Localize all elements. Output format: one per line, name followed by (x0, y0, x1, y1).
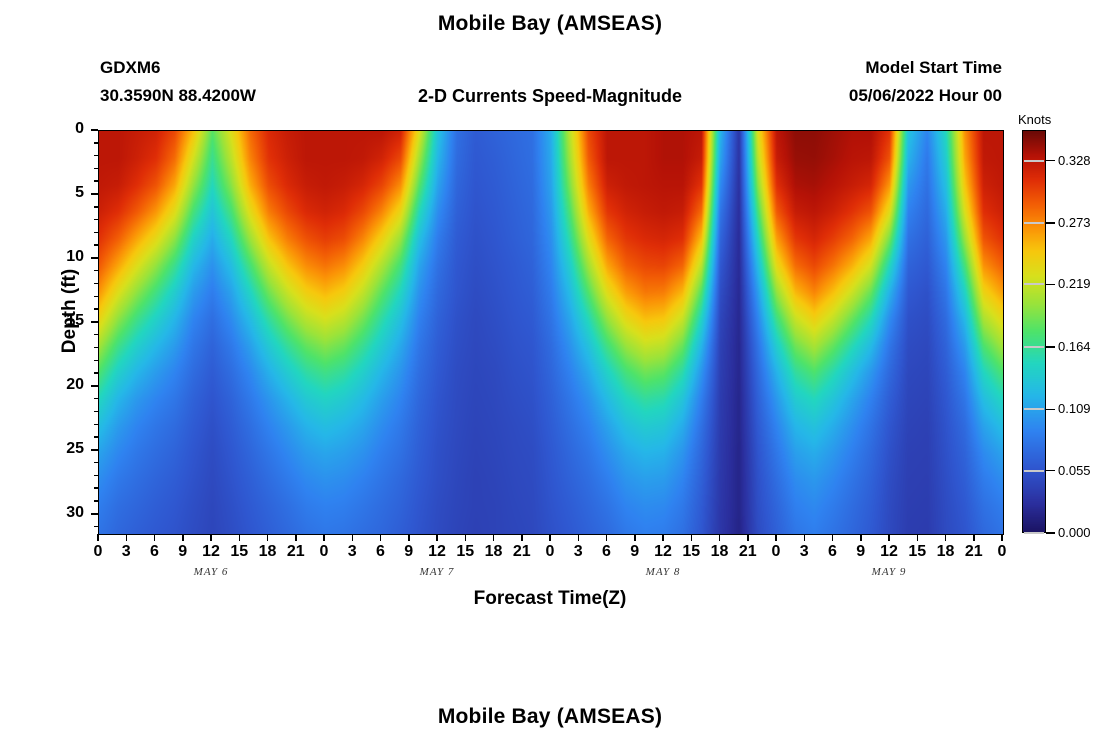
x-tick-mark (747, 534, 749, 541)
colorbar-tick-label: 0.055 (1058, 463, 1091, 478)
x-tick-mark (606, 534, 608, 541)
y-tick-label: 15 (44, 312, 84, 330)
colorbar-tick-label: 0.273 (1058, 215, 1091, 230)
x-tick-label: 3 (337, 543, 367, 561)
colorbar (1022, 130, 1046, 533)
y-minor-tick-mark (94, 372, 98, 374)
y-tick-label: 10 (44, 248, 84, 266)
x-tick-label: 15 (676, 543, 706, 561)
y-tick-label: 5 (44, 184, 84, 202)
x-tick-mark (549, 534, 551, 541)
y-tick-mark (91, 129, 98, 131)
x-tick-label: 12 (648, 543, 678, 561)
x-tick-label: 15 (224, 543, 254, 561)
y-tick-label: 25 (44, 440, 84, 458)
x-tick-label: 3 (563, 543, 593, 561)
x-tick-mark (352, 534, 354, 541)
colorbar-tick-mark (1046, 532, 1055, 534)
x-tick-label: 18 (253, 543, 283, 561)
colorbar-inner-tick (1024, 532, 1044, 534)
x-tick-label: 15 (902, 543, 932, 561)
y-minor-tick-mark (94, 142, 98, 144)
x-tick-label: 15 (450, 543, 480, 561)
colorbar-tick-label: 0.000 (1058, 525, 1091, 540)
model-start-time-value: 05/06/2022 Hour 00 (849, 86, 1002, 106)
x-tick-label: 12 (422, 543, 452, 561)
y-minor-tick-mark (94, 462, 98, 464)
x-tick-mark (154, 534, 156, 541)
x-tick-mark (267, 534, 269, 541)
x-day-label: MAY 9 (844, 566, 934, 578)
colorbar-inner-tick (1024, 408, 1044, 410)
colorbar-tick-mark (1046, 346, 1055, 348)
x-tick-mark (436, 534, 438, 541)
colorbar-tick-mark (1046, 160, 1055, 162)
x-tick-label: 21 (733, 543, 763, 561)
colorbar-inner-tick (1024, 346, 1044, 348)
x-day-label: MAY 6 (166, 566, 256, 578)
y-minor-tick-mark (94, 270, 98, 272)
y-tick-label: 30 (44, 504, 84, 522)
x-tick-label: 9 (620, 543, 650, 561)
x-tick-label: 0 (535, 543, 565, 561)
y-minor-tick-mark (94, 500, 98, 502)
y-minor-tick-mark (94, 308, 98, 310)
x-tick-mark (493, 534, 495, 541)
y-minor-tick-mark (94, 526, 98, 528)
y-tick-mark (91, 321, 98, 323)
x-tick-label: 9 (394, 543, 424, 561)
x-axis-title: Forecast Time(Z) (0, 588, 1100, 610)
x-tick-mark (182, 534, 184, 541)
page-title: Mobile Bay (AMSEAS) (0, 12, 1100, 36)
x-tick-label: 0 (987, 543, 1017, 561)
x-tick-mark (210, 534, 212, 541)
x-tick-label: 6 (818, 543, 848, 561)
x-tick-mark (408, 534, 410, 541)
x-tick-label: 21 (281, 543, 311, 561)
y-minor-tick-mark (94, 206, 98, 208)
x-tick-mark (662, 534, 664, 541)
x-tick-mark (917, 534, 919, 541)
y-minor-tick-mark (94, 296, 98, 298)
x-tick-mark (973, 534, 975, 541)
colorbar-units-label: Knots (1018, 112, 1051, 127)
colorbar-tick-label: 0.164 (1058, 339, 1091, 354)
x-tick-mark (634, 534, 636, 541)
x-tick-mark (521, 534, 523, 541)
heatmap-canvas (99, 131, 1003, 534)
x-tick-label: 21 (507, 543, 537, 561)
colorbar-tick-label: 0.109 (1058, 401, 1091, 416)
x-tick-mark (832, 534, 834, 541)
y-minor-tick-mark (94, 475, 98, 477)
y-minor-tick-mark (94, 398, 98, 400)
x-day-label: MAY 8 (618, 566, 708, 578)
x-tick-label: 0 (83, 543, 113, 561)
colorbar-tick-mark (1046, 470, 1055, 472)
page-footer-title: Mobile Bay (AMSEAS) (0, 705, 1100, 729)
x-tick-label: 3 (111, 543, 141, 561)
x-tick-label: 21 (959, 543, 989, 561)
colorbar-inner-tick (1024, 160, 1044, 162)
colorbar-tick-label: 0.219 (1058, 276, 1091, 291)
x-tick-label: 6 (140, 543, 170, 561)
x-tick-label: 6 (366, 543, 396, 561)
x-tick-mark (691, 534, 693, 541)
y-tick-label: 0 (44, 120, 84, 138)
x-tick-mark (1001, 534, 1003, 541)
x-tick-label: 0 (309, 543, 339, 561)
y-minor-tick-mark (94, 411, 98, 413)
y-tick-mark (91, 449, 98, 451)
y-tick-label: 20 (44, 376, 84, 394)
heatmap-plot-area (98, 130, 1004, 535)
colorbar-tick-mark (1046, 284, 1055, 286)
colorbar-inner-tick (1024, 283, 1044, 285)
y-minor-tick-mark (94, 180, 98, 182)
y-minor-tick-mark (94, 168, 98, 170)
x-tick-mark (578, 534, 580, 541)
y-minor-tick-mark (94, 244, 98, 246)
x-tick-label: 12 (874, 543, 904, 561)
x-tick-mark (465, 534, 467, 541)
y-tick-mark (91, 385, 98, 387)
x-tick-mark (380, 534, 382, 541)
x-tick-mark (775, 534, 777, 541)
x-tick-label: 9 (168, 543, 198, 561)
x-tick-mark (888, 534, 890, 541)
x-tick-label: 18 (705, 543, 735, 561)
colorbar-tick-mark (1046, 409, 1055, 411)
y-minor-tick-mark (94, 219, 98, 221)
x-tick-mark (126, 534, 128, 541)
x-tick-mark (860, 534, 862, 541)
x-tick-label: 6 (592, 543, 622, 561)
x-tick-label: 12 (196, 543, 226, 561)
y-minor-tick-mark (94, 424, 98, 426)
colorbar-canvas (1022, 130, 1046, 533)
y-minor-tick-mark (94, 283, 98, 285)
y-minor-tick-mark (94, 232, 98, 234)
y-minor-tick-mark (94, 436, 98, 438)
x-tick-mark (945, 534, 947, 541)
station-id: GDXM6 (100, 58, 160, 78)
x-tick-label: 0 (761, 543, 791, 561)
y-tick-mark (91, 513, 98, 515)
x-tick-mark (719, 534, 721, 541)
x-tick-mark (323, 534, 325, 541)
x-tick-mark (239, 534, 241, 541)
colorbar-inner-tick (1024, 470, 1044, 472)
y-tick-mark (91, 257, 98, 259)
x-tick-label: 3 (789, 543, 819, 561)
colorbar-tick-label: 0.328 (1058, 153, 1091, 168)
colorbar-tick-mark (1046, 222, 1055, 224)
x-tick-mark (97, 534, 99, 541)
model-start-time-label: Model Start Time (865, 58, 1002, 78)
y-minor-tick-mark (94, 360, 98, 362)
y-minor-tick-mark (94, 155, 98, 157)
colorbar-inner-tick (1024, 222, 1044, 224)
y-minor-tick-mark (94, 334, 98, 336)
x-tick-label: 18 (931, 543, 961, 561)
y-tick-mark (91, 193, 98, 195)
x-tick-mark (295, 534, 297, 541)
x-tick-mark (804, 534, 806, 541)
y-minor-tick-mark (94, 347, 98, 349)
x-tick-label: 18 (479, 543, 509, 561)
x-tick-label: 9 (846, 543, 876, 561)
x-day-label: MAY 7 (392, 566, 482, 578)
y-minor-tick-mark (94, 487, 98, 489)
